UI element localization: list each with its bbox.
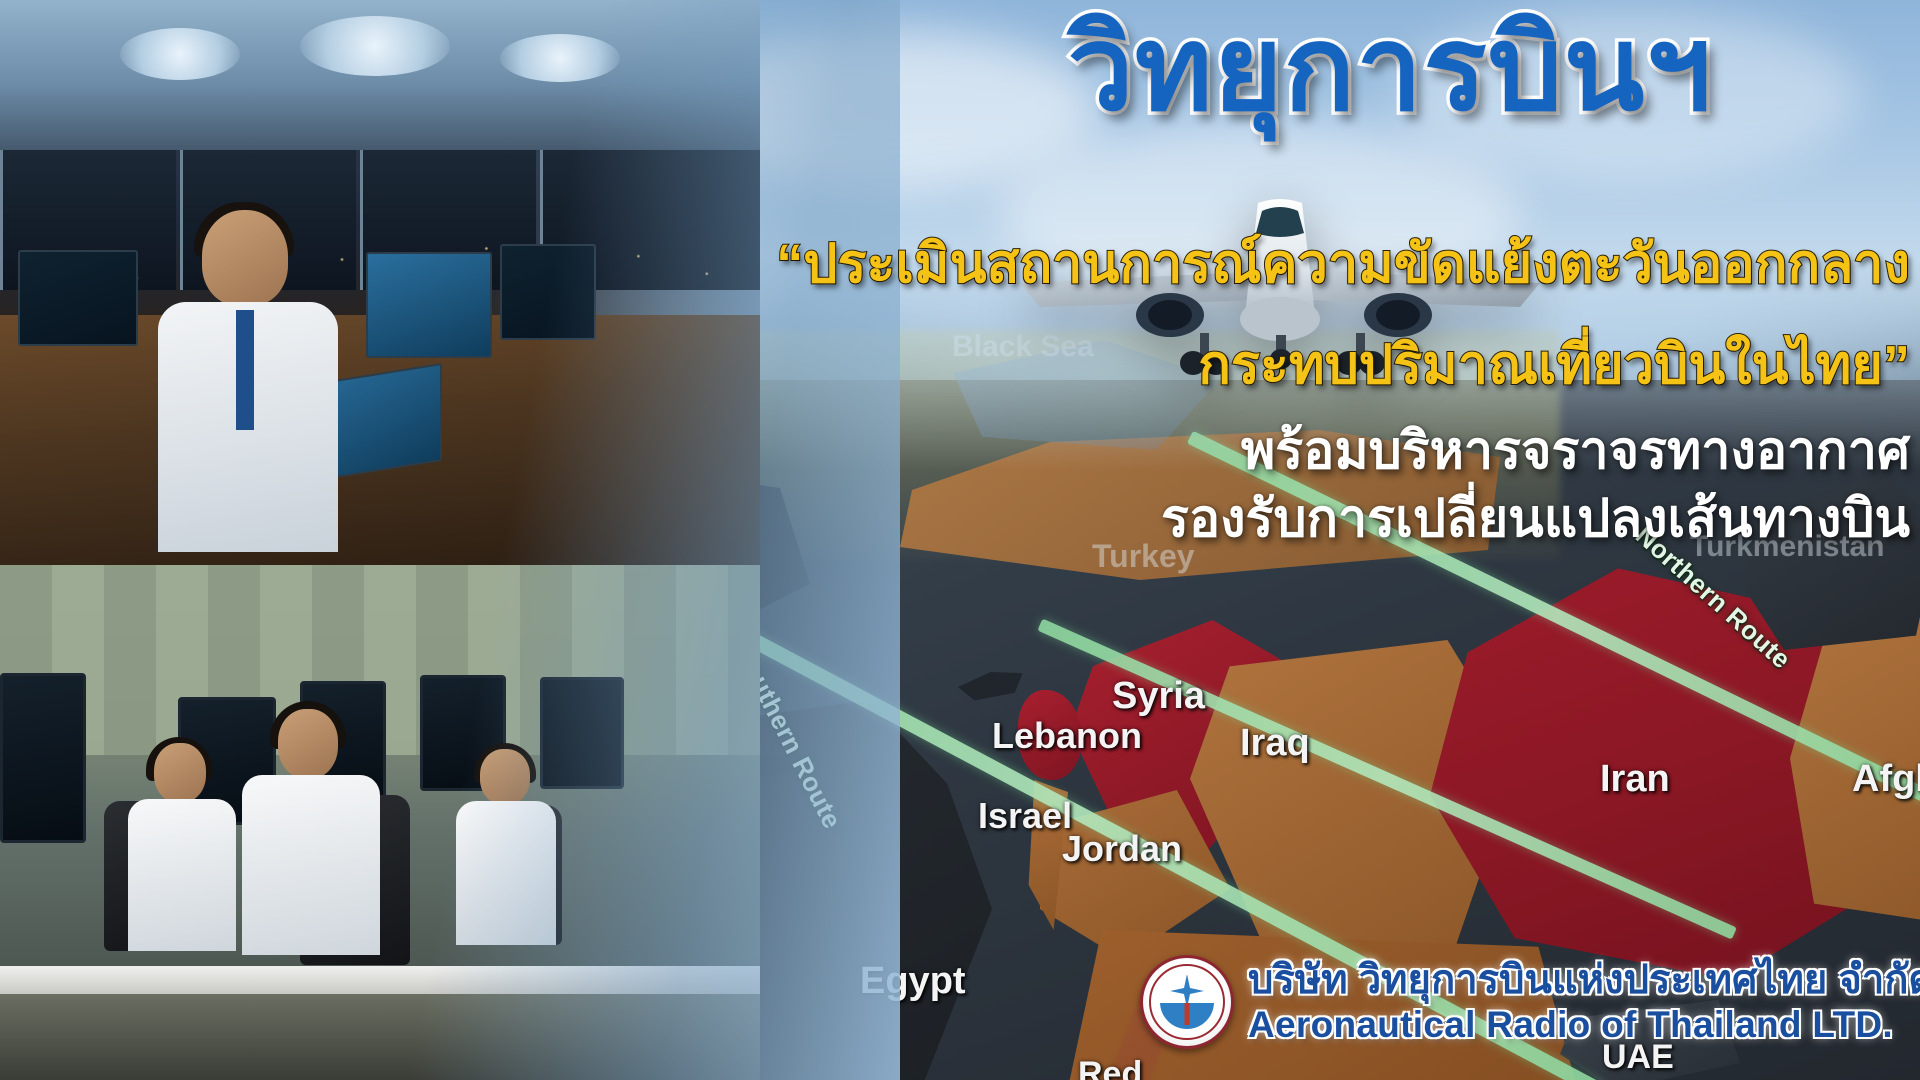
page-title: วิทยุการบินฯ bbox=[880, 10, 1900, 128]
news-banner: Southern Route Northern Route Greece Tur… bbox=[0, 0, 1920, 1080]
map-label-lebanon: Lebanon bbox=[992, 715, 1142, 757]
map-label-red-sea: Red bbox=[1078, 1055, 1142, 1080]
ops-controller-2 bbox=[236, 705, 386, 955]
statement-line-1: พร้อมบริหารจราจรทางอากาศ bbox=[590, 424, 1910, 479]
quote-line-2: กระทบปริมาณเที่ยวบินในไทย” bbox=[610, 337, 1910, 394]
map-label-jordan: Jordan bbox=[1062, 828, 1182, 870]
branding-lockup: บริษัท วิทยุการบินแห่งประเทศไทย จำกัด Ae… bbox=[1140, 955, 1920, 1049]
map-label-israel: Israel bbox=[978, 795, 1072, 837]
map-label-afghanistan: Afghanis bbox=[1852, 758, 1920, 801]
atc-operator bbox=[150, 210, 340, 550]
map-label-iraq: Iraq bbox=[1240, 722, 1310, 765]
map-label-egypt: Egypt bbox=[860, 960, 966, 1003]
ops-controller-1 bbox=[122, 741, 242, 951]
ops-room-floor bbox=[0, 994, 760, 1080]
company-name-en: Aeronautical Radio of Thailand LTD. bbox=[1248, 1005, 1920, 1045]
aerothai-logo bbox=[1140, 955, 1234, 1049]
ops-room-photo bbox=[0, 565, 760, 1080]
ops-controller-3 bbox=[452, 745, 562, 945]
quote-line-1: “ประเมินสถานการณ์ความขัดแย้งตะวันออกกลาง bbox=[610, 236, 1910, 293]
company-name-th: บริษัท วิทยุการบินแห่งประเทศไทย จำกัด bbox=[1248, 959, 1920, 1002]
map-label-syria: Syria bbox=[1112, 675, 1205, 718]
statement-line-2: รองรับการเปลี่ยนแปลงเส้นทางบิน bbox=[590, 492, 1910, 547]
ops-room-desk bbox=[0, 966, 760, 994]
map-label-iran: Iran bbox=[1600, 758, 1670, 801]
